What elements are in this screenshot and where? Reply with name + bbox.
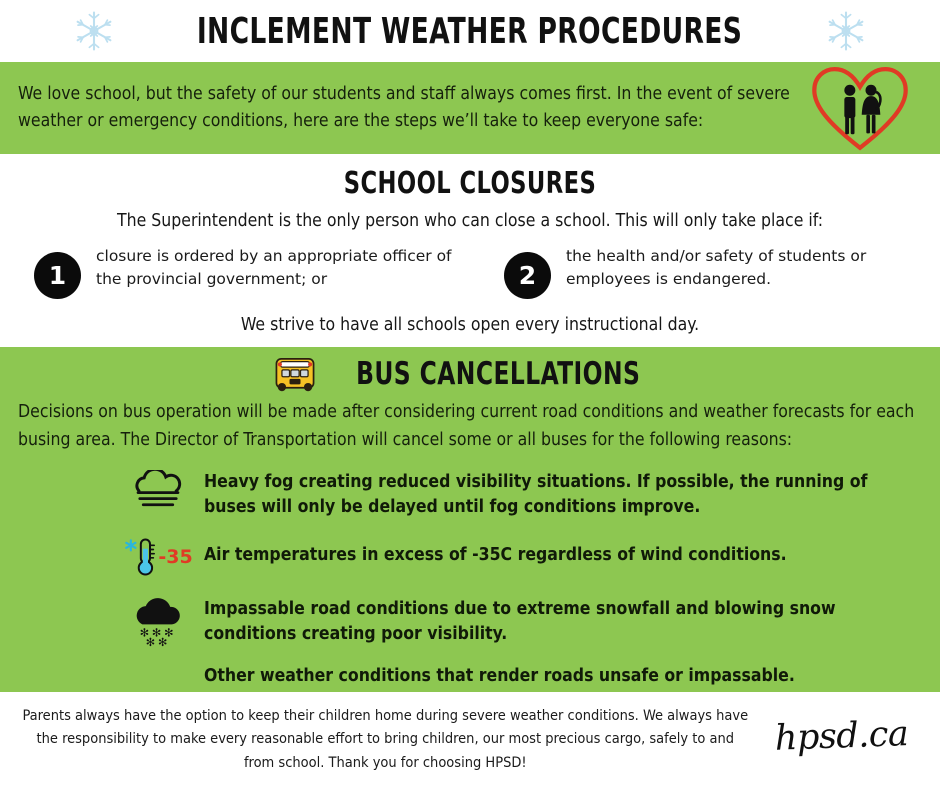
closure-conditions-list: 1 closure is ordered by an appropriate o… <box>0 245 940 299</box>
thermometer-value: -35 <box>158 546 192 568</box>
fog-icon-wrap <box>126 468 190 510</box>
school-closures-heading: SCHOOL CLOSURES <box>75 166 865 201</box>
heart-with-children-icon <box>808 64 912 152</box>
footer: Parents always have the option to keep t… <box>0 692 940 788</box>
bus-reason-temperature: -35 Air temperatures in excess of -35C r… <box>126 535 924 577</box>
closure-condition-2: 2 the health and/or safety of students o… <box>470 245 922 299</box>
school-closures-closing-note: We strive to have all schools open every… <box>0 315 940 335</box>
school-closures-section: SCHOOL CLOSURES The Superintendent is th… <box>0 154 940 347</box>
thermometer-icon-wrap: -35 <box>126 535 190 577</box>
snow-cloud-icon-wrap: ✻✻✻ ✻✻ <box>126 591 190 647</box>
school-bus-icon <box>273 356 317 392</box>
closure-condition-2-text: the health and/or safety of students or … <box>551 245 922 291</box>
bus-cancellations-lead: Decisions on bus operation will be made … <box>18 398 924 454</box>
snowflake-icon <box>825 10 867 52</box>
fog-icon <box>132 470 184 510</box>
bus-cancellations-section: BUS CANCELLATIONS Decisions on bus opera… <box>0 347 940 692</box>
footer-text: Parents always have the option to keep t… <box>14 705 775 775</box>
inclement-weather-poster: INCLEMENT WEATHER PROCEDURES <box>0 0 940 788</box>
thermometer-cold-icon <box>123 537 157 577</box>
school-closures-lead: The Superintendent is the only person wh… <box>0 211 940 231</box>
page-title: INCLEMENT WEATHER PROCEDURES <box>197 11 742 52</box>
closure-condition-1: 1 closure is ordered by an appropriate o… <box>18 245 470 299</box>
bus-cancellations-heading: BUS CANCELLATIONS <box>356 356 640 392</box>
closure-condition-1-text: closure is ordered by an appropriate off… <box>81 245 470 291</box>
number-badge-2: 2 <box>504 252 551 299</box>
svg-text:✻: ✻ <box>158 635 167 647</box>
bus-reason-temperature-text: Air temperatures in excess of -35C regar… <box>190 535 787 568</box>
number-badge-1: 1 <box>34 252 81 299</box>
svg-text:✻: ✻ <box>146 635 155 647</box>
bus-reason-snowfall: ✻✻✻ ✻✻ Impassable road conditions due to… <box>126 591 924 648</box>
hpsd-brand-logo: hpsd.ca <box>774 713 931 766</box>
bus-reason-other-text: Other weather conditions that render roa… <box>190 662 795 689</box>
intro-text: We love school, but the safety of our st… <box>18 81 808 135</box>
bus-cancellations-heading-row: BUS CANCELLATIONS <box>16 356 924 392</box>
intro-banner: We love school, but the safety of our st… <box>0 62 940 154</box>
bus-reason-other: Other weather conditions that render roa… <box>126 662 924 689</box>
snow-cloud-icon: ✻✻✻ ✻✻ <box>131 593 185 647</box>
bus-reason-snowfall-text: Impassable road conditions due to extrem… <box>190 591 924 648</box>
bus-reason-fog: Heavy fog creating reduced visibility si… <box>126 468 924 521</box>
bus-reason-fog-text: Heavy fog creating reduced visibility si… <box>190 468 924 521</box>
title-bar: INCLEMENT WEATHER PROCEDURES <box>0 0 940 62</box>
snowflake-icon <box>73 10 115 52</box>
bus-cancellation-reasons-list: Heavy fog creating reduced visibility si… <box>16 468 924 689</box>
